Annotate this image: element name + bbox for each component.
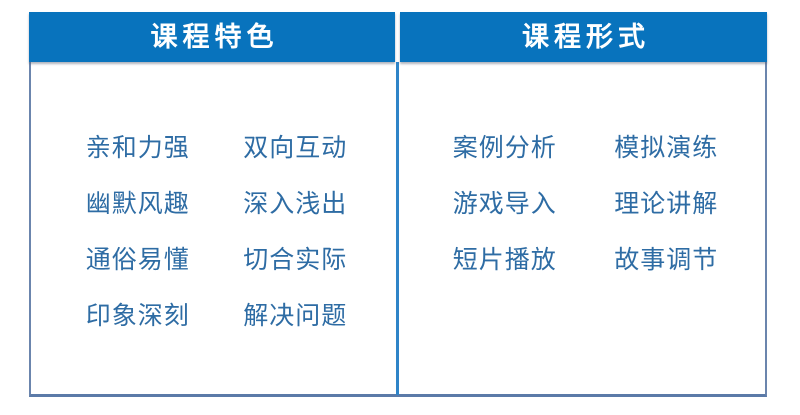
list-item: 理论讲解 <box>586 188 748 222</box>
format-grid: 案例分析 模拟演练 游戏导入 理论讲解 短片播放 故事调节 <box>400 132 765 278</box>
comparison-table: 课程特色 课程形式 亲和力强 双向互动 幽默风趣 深入浅出 通俗易懂 切合实际 … <box>29 12 767 397</box>
header-title-course-format: 课程形式 <box>517 24 650 51</box>
header-cell-course-features: 课程特色 <box>29 12 395 62</box>
panel-course-features: 亲和力强 双向互动 幽默风趣 深入浅出 通俗易懂 切合实际 印象深刻 解决问题 <box>31 62 396 397</box>
list-item: 通俗易懂 <box>59 244 217 278</box>
header-cell-course-format: 课程形式 <box>400 12 767 62</box>
list-item: 故事调节 <box>586 244 748 278</box>
list-item: 切合实际 <box>217 244 375 278</box>
list-item: 深入浅出 <box>217 188 375 222</box>
panel-divider <box>396 62 399 395</box>
list-item: 亲和力强 <box>59 132 217 166</box>
table-header-row: 课程特色 课程形式 <box>29 12 767 62</box>
header-title-course-features: 课程特色 <box>146 24 279 51</box>
slide-canvas: 课程特色 课程形式 亲和力强 双向互动 幽默风趣 深入浅出 通俗易懂 切合实际 … <box>0 0 800 415</box>
list-item: 双向互动 <box>217 132 375 166</box>
list-item: 游戏导入 <box>424 188 586 222</box>
feature-grid: 亲和力强 双向互动 幽默风趣 深入浅出 通俗易懂 切合实际 印象深刻 解决问题 <box>31 132 396 334</box>
list-item: 短片播放 <box>424 244 586 278</box>
panel-course-format: 案例分析 模拟演练 游戏导入 理论讲解 短片播放 故事调节 <box>400 62 765 397</box>
list-item: 幽默风趣 <box>59 188 217 222</box>
list-item: 案例分析 <box>424 132 586 166</box>
list-item: 模拟演练 <box>586 132 748 166</box>
list-item: 解决问题 <box>217 300 375 334</box>
list-item: 印象深刻 <box>59 300 217 334</box>
